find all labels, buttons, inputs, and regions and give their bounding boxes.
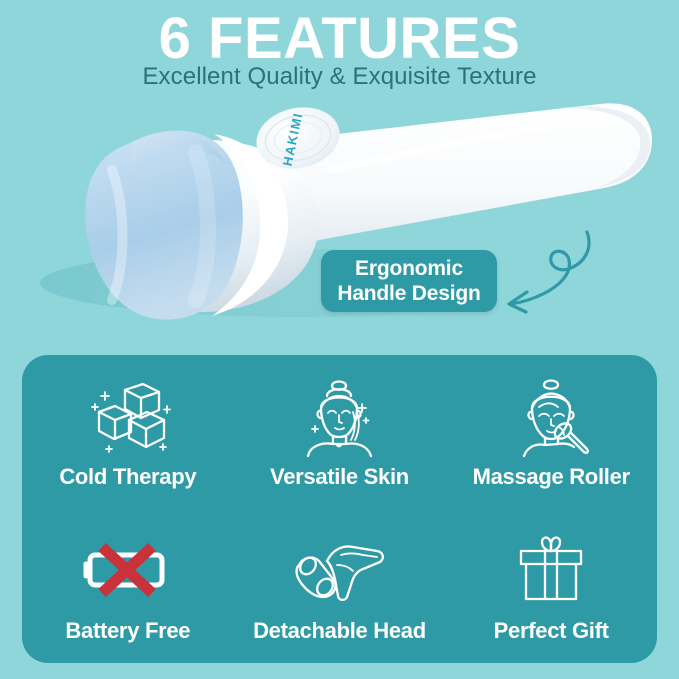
features-panel: Cold Therapy — [22, 355, 657, 663]
infographic-root: 6 FEATURES Excellent Quality & Exquisite… — [0, 0, 679, 679]
feature-label: Versatile Skin — [270, 464, 409, 490]
feature-item-cold-therapy: Cold Therapy — [22, 355, 234, 509]
battery-crossed-icon — [78, 528, 178, 612]
gift-box-icon — [508, 528, 594, 612]
feature-label: Massage Roller — [473, 464, 630, 490]
feature-label: Detachable Head — [253, 618, 426, 644]
badge-line-1: Ergonomic — [355, 256, 463, 281]
feature-label: Battery Free — [65, 618, 190, 644]
face-sparkle-icon — [296, 374, 382, 458]
detachable-head-icon — [289, 528, 389, 612]
feature-item-versatile-skin: Versatile Skin — [234, 355, 446, 509]
badge-line-2: Handle Design — [337, 281, 480, 306]
feature-label: Cold Therapy — [59, 464, 196, 490]
features-grid: Cold Therapy — [22, 355, 657, 663]
feature-item-detachable-head: Detachable Head — [234, 509, 446, 663]
feature-item-battery-free: Battery Free — [22, 509, 234, 663]
ice-cubes-icon — [85, 374, 171, 458]
feature-label: Perfect Gift — [494, 618, 609, 644]
curly-arrow-icon — [489, 226, 609, 318]
face-roller-icon — [508, 374, 594, 458]
ergonomic-handle-badge: Ergonomic Handle Design — [321, 250, 497, 312]
feature-item-massage-roller: Massage Roller — [445, 355, 657, 509]
page-title: 6 FEATURES — [0, 8, 679, 70]
feature-item-perfect-gift: Perfect Gift — [445, 509, 657, 663]
